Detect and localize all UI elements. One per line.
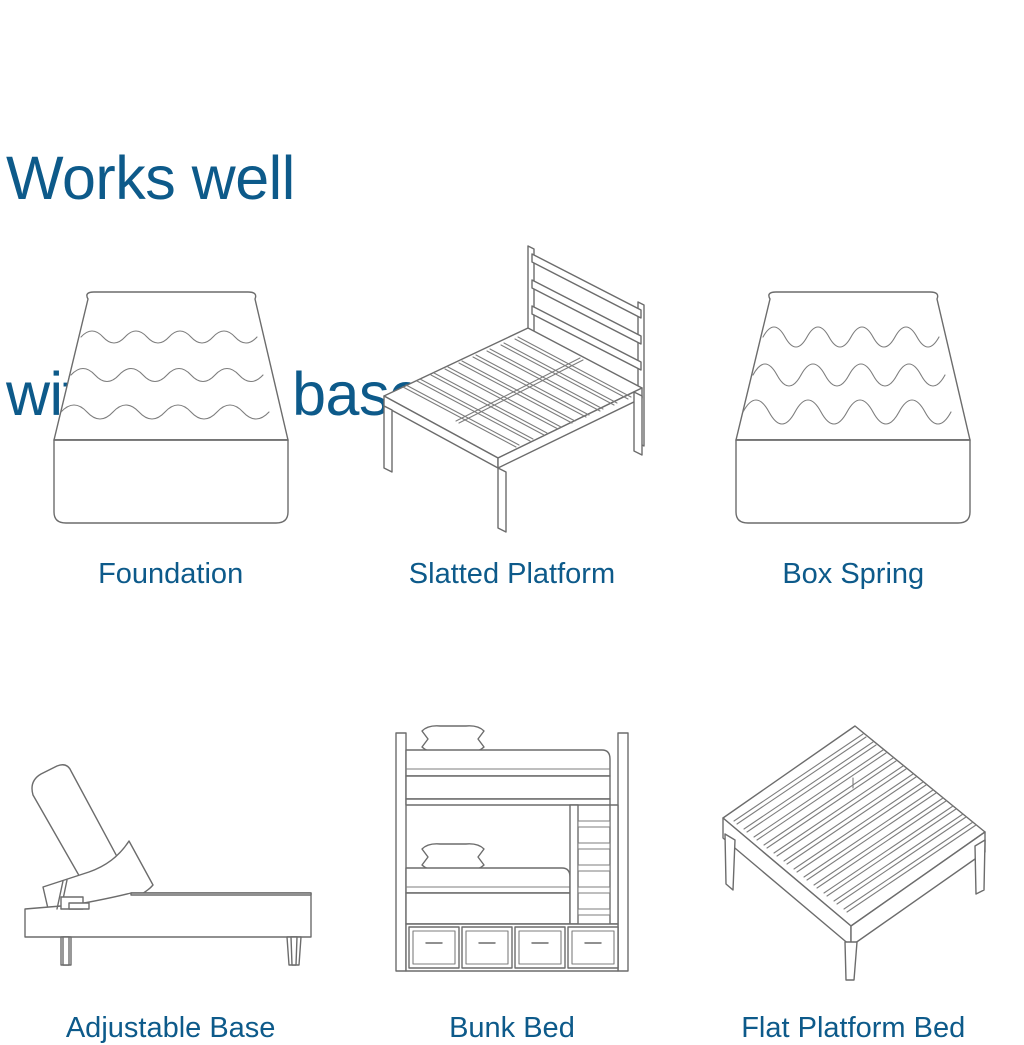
foundation-icon xyxy=(26,290,316,535)
foundation-art xyxy=(6,215,336,535)
base-card-flat-platform-bed: Flat Platform Bed xyxy=(683,683,1024,1045)
adjustable-base-art xyxy=(6,683,336,983)
base-card-bunk-bed: Bunk Bed xyxy=(341,683,682,1045)
bunk-bed-icon xyxy=(382,721,642,983)
headline-line-1: Works well xyxy=(6,142,469,214)
caption-adjustable-base: Adjustable Base xyxy=(66,1011,276,1045)
caption-foundation: Foundation xyxy=(98,557,243,591)
base-card-slatted-platform: Slatted Platform xyxy=(341,215,682,591)
slatted-platform-icon xyxy=(362,240,662,535)
box-spring-icon xyxy=(708,290,998,535)
base-card-box-spring: Box Spring xyxy=(683,215,1024,591)
box-spring-art xyxy=(688,215,1018,535)
caption-box-spring: Box Spring xyxy=(782,557,924,591)
bunk-bed-art xyxy=(347,683,677,983)
caption-slatted-platform: Slatted Platform xyxy=(409,557,615,591)
bases-grid: Foundation xyxy=(0,215,1024,1045)
caption-bunk-bed: Bunk Bed xyxy=(449,1011,575,1045)
adjustable-base-icon xyxy=(11,733,331,983)
base-card-foundation: Foundation xyxy=(0,215,341,591)
flat-platform-bed-icon xyxy=(703,718,1003,983)
base-card-adjustable-base: Adjustable Base xyxy=(0,683,341,1045)
bases-row-top: Foundation xyxy=(0,215,1024,591)
flat-platform-bed-art xyxy=(688,683,1018,983)
bases-row-bottom: Adjustable Base xyxy=(0,683,1024,1045)
slatted-platform-art xyxy=(347,215,677,535)
caption-flat-platform-bed: Flat Platform Bed xyxy=(741,1011,965,1045)
